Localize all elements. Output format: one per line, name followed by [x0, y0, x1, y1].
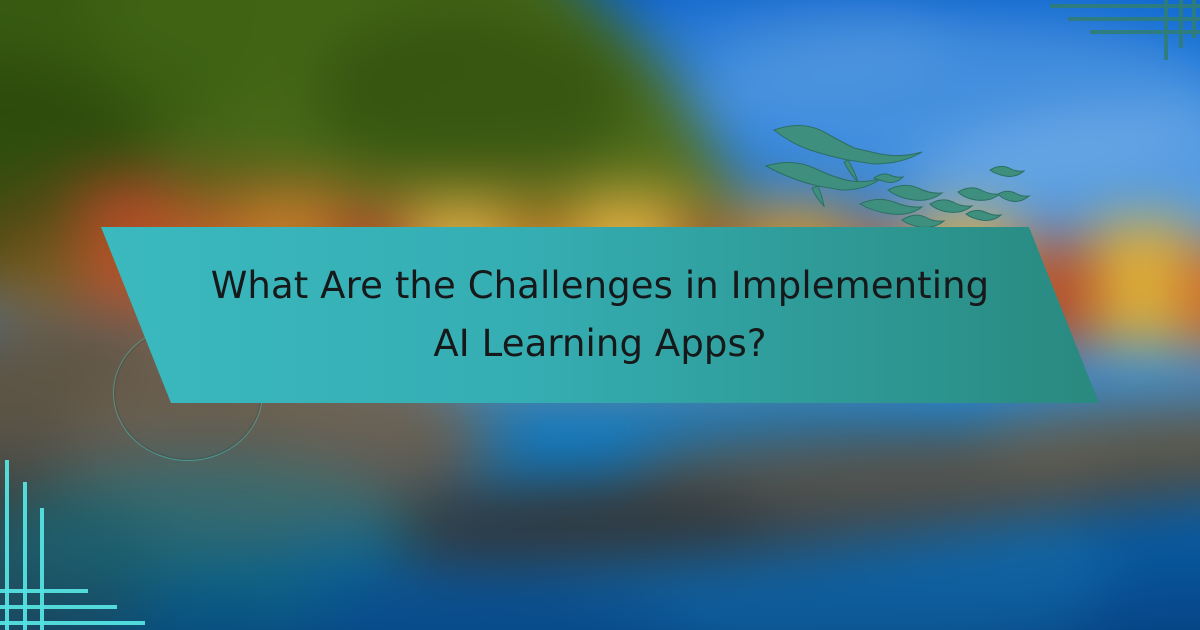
corner-line-v3: [40, 508, 44, 630]
title-banner: [0, 227, 1200, 403]
flying-birds-decoration: [762, 108, 1032, 230]
corner-line-v2: [1179, 0, 1183, 48]
corner-line-v1: [1164, 0, 1168, 60]
corner-line-h2: [0, 605, 117, 609]
corner-lines-bottom-left: [0, 460, 160, 630]
corner-line-v3: [1192, 0, 1196, 38]
corner-line-h1: [0, 621, 145, 625]
corner-lines-top-right: [1050, 0, 1200, 60]
social-share-card: What Are the Challenges in Implementing …: [0, 0, 1200, 630]
corner-line-h3: [1090, 30, 1200, 34]
corner-line-h1: [1050, 4, 1200, 8]
corner-line-h3: [0, 589, 88, 593]
